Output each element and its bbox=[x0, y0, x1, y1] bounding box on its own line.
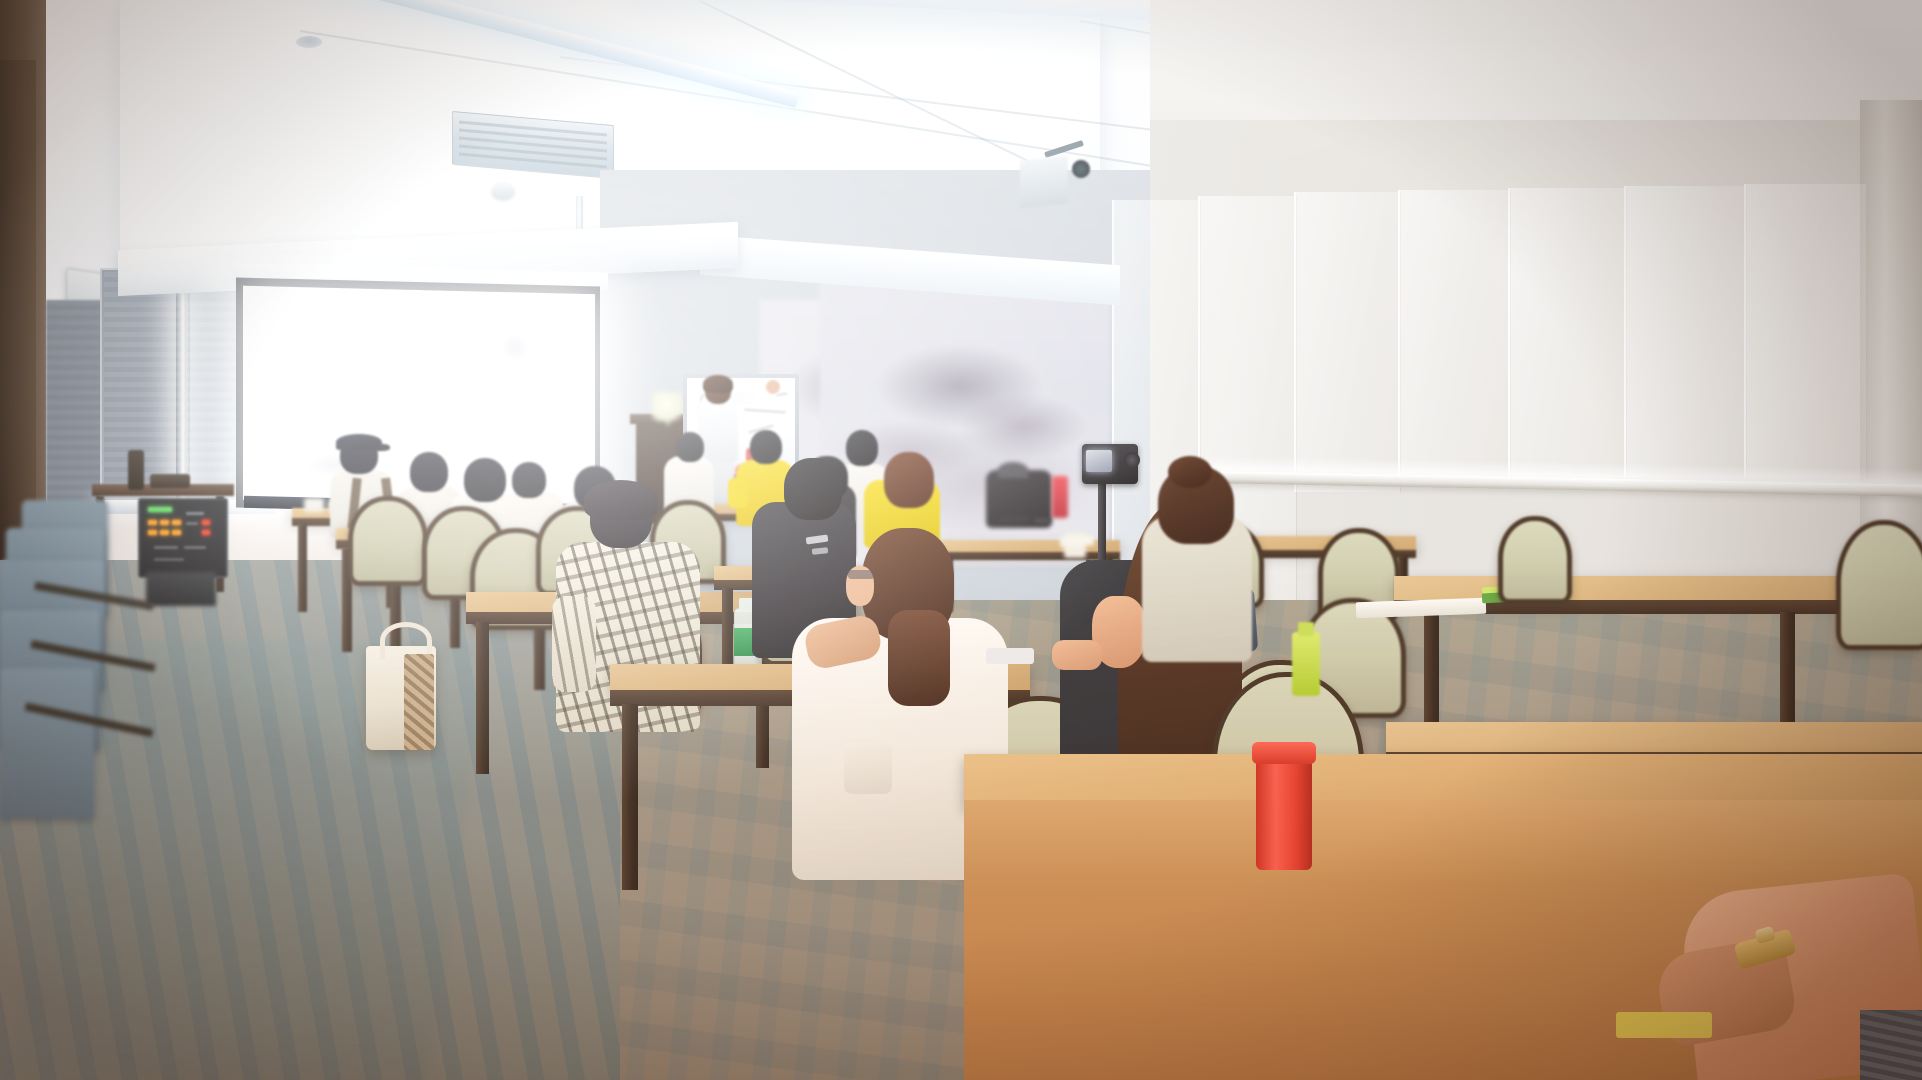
smoke-detector-icon bbox=[492, 183, 514, 199]
notebook-papers bbox=[1060, 535, 1094, 547]
smartphone bbox=[986, 648, 1034, 664]
attendee-sleeve bbox=[1860, 1010, 1922, 1080]
attendee-head bbox=[410, 452, 448, 492]
remote-device bbox=[1000, 516, 1030, 522]
chair[interactable] bbox=[1836, 520, 1922, 650]
led-green bbox=[148, 507, 172, 512]
screen-content-mark bbox=[498, 330, 532, 364]
attendee-head bbox=[676, 432, 704, 462]
led-orange bbox=[160, 530, 169, 535]
camera-lcd-screen bbox=[1086, 450, 1112, 472]
attendee-arm bbox=[552, 596, 596, 692]
surveillance-camera-icon bbox=[1072, 160, 1090, 178]
table-leg bbox=[1780, 612, 1795, 722]
camera-lens-icon bbox=[1124, 452, 1140, 468]
attendee-ponytail bbox=[888, 610, 950, 706]
stacked-chairs bbox=[0, 668, 94, 818]
attendee-hair bbox=[884, 452, 934, 508]
window-light-glow bbox=[176, 268, 190, 508]
wall-panel bbox=[1398, 190, 1511, 480]
attendee-sleeve bbox=[844, 742, 892, 794]
attendee-hair bbox=[784, 458, 842, 520]
rack-label bbox=[186, 512, 204, 515]
table-leg bbox=[622, 704, 638, 890]
led-red bbox=[202, 520, 210, 525]
rack-label bbox=[186, 522, 198, 525]
table-leg bbox=[298, 524, 307, 612]
red-tumbler bbox=[1256, 746, 1312, 870]
flower-arrangement bbox=[652, 392, 686, 422]
red-bottle-back bbox=[1052, 476, 1068, 518]
red-tumbler-lid bbox=[1252, 742, 1316, 764]
cap-brim bbox=[374, 444, 390, 451]
chair[interactable] bbox=[348, 496, 428, 586]
led-orange bbox=[172, 530, 181, 535]
av-device bbox=[150, 474, 190, 488]
paper-cup bbox=[304, 498, 324, 512]
backpack-handle bbox=[998, 462, 1028, 478]
remote-device bbox=[1034, 518, 1050, 523]
led-orange bbox=[148, 520, 157, 525]
green-drink-bottle bbox=[1292, 632, 1320, 696]
presenter-hair bbox=[703, 375, 733, 393]
av-microphone bbox=[128, 450, 144, 490]
wall-speaker-right bbox=[1020, 155, 1068, 208]
table-row bbox=[1386, 722, 1922, 756]
attendee-hair bbox=[584, 480, 658, 520]
av-rack-base bbox=[146, 572, 216, 606]
led-orange bbox=[148, 530, 157, 535]
table-edge bbox=[938, 552, 1120, 560]
glasses-icon bbox=[848, 570, 874, 579]
led-red bbox=[202, 530, 210, 535]
led-orange bbox=[172, 520, 181, 525]
wall-panel bbox=[1508, 188, 1627, 478]
attendee-head bbox=[464, 458, 506, 502]
wall-panel bbox=[1744, 184, 1867, 478]
chair[interactable] bbox=[1498, 516, 1572, 604]
rack-label bbox=[154, 558, 184, 561]
downlight-icon bbox=[296, 36, 322, 48]
seminar-room-photo bbox=[0, 0, 1922, 1080]
attendee-arm bbox=[728, 478, 748, 508]
notebook-papers bbox=[1616, 1012, 1712, 1038]
attendee-hair-bun bbox=[1168, 456, 1212, 488]
window-left bbox=[46, 300, 108, 510]
tote-bag-pattern bbox=[404, 654, 434, 750]
attendee-head bbox=[846, 430, 878, 466]
av-control-rack[interactable] bbox=[138, 498, 228, 578]
led-orange bbox=[160, 520, 169, 525]
presenter-hand bbox=[766, 380, 780, 394]
attendee-head bbox=[750, 430, 782, 464]
wall-panel bbox=[1294, 192, 1401, 492]
rack-label bbox=[184, 546, 206, 549]
table-leg bbox=[1424, 612, 1439, 728]
table-leg bbox=[476, 622, 489, 774]
attendee-head bbox=[512, 462, 546, 498]
presenter-torso bbox=[698, 398, 738, 462]
wall-panel bbox=[1624, 186, 1747, 478]
attendee-hand bbox=[1052, 640, 1102, 670]
rack-label bbox=[154, 546, 178, 549]
green-drink-bottle-cap bbox=[1298, 622, 1314, 636]
